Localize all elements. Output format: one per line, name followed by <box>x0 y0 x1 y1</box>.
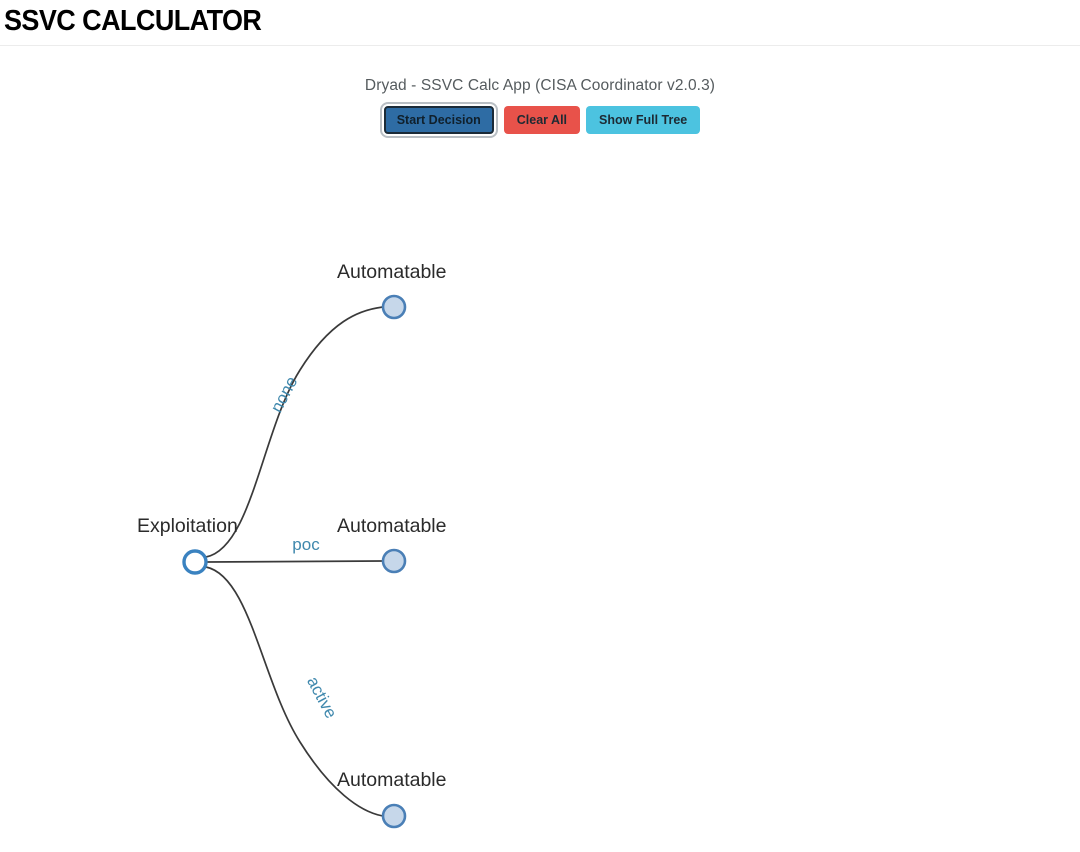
show-full-tree-button[interactable]: Show Full Tree <box>586 106 700 134</box>
tree-node-label: Automatable <box>337 261 447 283</box>
tree-edge <box>206 561 383 562</box>
tree-edge-labels-group: nonepocactive <box>267 373 341 721</box>
edge-label-none[interactable]: none <box>267 373 302 415</box>
edge-label-active[interactable]: active <box>303 673 341 721</box>
tree-root-label: Exploitation <box>137 515 238 537</box>
toolbar-button-row: Start Decision Clear All Show Full Tree <box>0 106 1080 134</box>
tree-node-automatable[interactable]: Automatable <box>337 261 447 318</box>
tree-node-label: Automatable <box>337 515 447 537</box>
start-decision-button[interactable]: Start Decision <box>384 106 494 134</box>
edge-label-poc[interactable]: poc <box>292 535 320 554</box>
tree-node-exploitation[interactable]: Exploitation <box>137 515 238 573</box>
tree-node-automatable[interactable]: Automatable <box>337 515 447 572</box>
clear-all-button[interactable]: Clear All <box>504 106 580 134</box>
tree-node-label: Automatable <box>337 769 447 791</box>
page-title: SSVC CALCULATOR <box>4 2 261 40</box>
app-header: SSVC CALCULATOR <box>0 0 1080 46</box>
toolbar: Dryad - SSVC Calc App (CISA Coordinator … <box>0 46 1080 134</box>
tree-node-automatable[interactable]: Automatable <box>337 769 447 827</box>
app-subtitle: Dryad - SSVC Calc App (CISA Coordinator … <box>0 46 1080 94</box>
